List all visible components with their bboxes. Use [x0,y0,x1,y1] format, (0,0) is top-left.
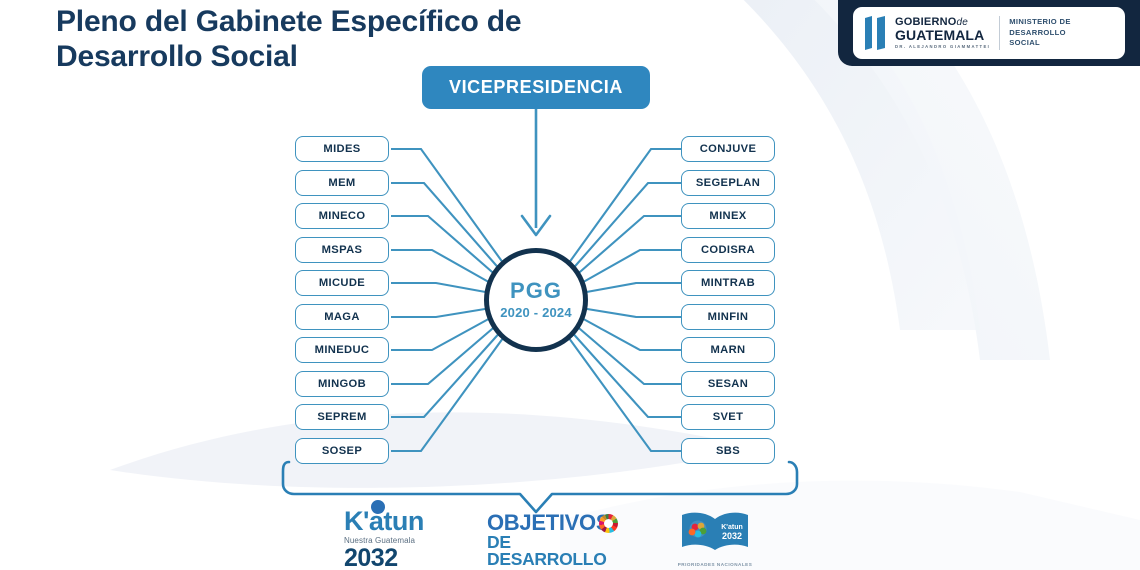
node-left-6[interactable]: MAGA [295,304,389,330]
pgg-period: 2020 - 2024 [500,305,572,320]
svg-text:2032: 2032 [722,531,742,541]
gov-de-text: de [957,17,969,28]
slide-canvas: Pleno del Gabinete Específico de Desarro… [0,0,1140,570]
gov-line-guatemala: GUATEMALA [895,28,990,43]
connector-right-8 [573,323,681,384]
prioridades-caption-line-1: PRIORIDADES NACIONALES [676,562,754,569]
node-left-1[interactable]: MIDES [295,136,389,162]
katun-year: 2032 [344,546,436,570]
node-pgg-center[interactable]: PGG 2020 - 2024 [484,248,588,352]
node-right-3[interactable]: MINEX [681,203,775,229]
connector-left-1 [391,149,506,267]
connector-left-4 [391,250,494,285]
gov-line-president: DR. ALEJANDRO GIAMMATTEI [895,44,990,49]
government-logo: GOBIERNOde GUATEMALA DR. ALEJANDRO GIAMM… [838,0,1140,66]
node-right-7[interactable]: MARN [681,337,775,363]
connector-left-9 [391,329,503,417]
ods-line-1-text: OBJETIVOS [487,510,610,535]
connector-right-3 [573,216,681,278]
connector-left-8 [391,323,499,384]
node-left-9[interactable]: SEPREM [295,404,389,430]
node-right-9[interactable]: SVET [681,404,775,430]
ministry-line-3: SOCIAL [1009,38,1071,49]
ministry-line-1: MINISTERIO DE [1009,17,1071,28]
government-logo-card: GOBIERNOde GUATEMALA DR. ALEJANDRO GIAMM… [853,7,1125,59]
node-left-8[interactable]: MINGOB [295,371,389,397]
bottom-bracket [283,462,797,512]
svg-text:K'atun: K'atun [721,524,743,531]
node-left-5[interactable]: MICUDE [295,270,389,296]
prioridades-caption: PRIORIDADES NACIONALES DE DESARROLLO [676,562,754,570]
connector-left-7 [391,316,494,350]
node-right-1[interactable]: CONJUVE [681,136,775,162]
node-right-4[interactable]: CODISRA [681,237,775,263]
node-left-10[interactable]: SOSEP [295,438,389,464]
node-vicepresidencia[interactable]: VICEPRESIDENCIA [422,66,650,109]
connector-right-4 [578,250,681,285]
node-left-7[interactable]: MINEDUC [295,337,389,363]
node-right-2[interactable]: SEGEPLAN [681,170,775,196]
pgg-acronym: PGG [510,280,562,302]
prioridades-nacionales-logo: K'atun 2032 PRIORIDADES NACIONALES DE DE… [676,509,754,570]
connector-left-2 [391,183,502,272]
connector-left-5 [391,283,491,293]
ministry-line-2: DESARROLLO [1009,28,1071,39]
node-left-3[interactable]: MINECO [295,203,389,229]
sdg-color-wheel-icon [599,514,618,533]
connector-left-10 [391,334,506,451]
page-title-line-1: Pleno del Gabinete Específico de [56,4,656,39]
government-wordmark: GOBIERNOde GUATEMALA DR. ALEJANDRO GIAMM… [895,17,990,49]
ods-line-2: DE DESARROLLO [487,534,617,569]
page-title: Pleno del Gabinete Específico de Desarro… [56,4,656,75]
node-left-4[interactable]: MSPAS [295,237,389,263]
connector-right-1 [566,149,681,267]
ministry-name: MINISTERIO DE DESARROLLO SOCIAL [1009,17,1071,49]
gov-bars-svg [862,16,888,50]
katun-dot-icon [371,500,385,514]
katun-wordmark: K'atun [344,508,436,535]
connector-right-6 [581,308,681,317]
ods-line-1: OBJETIVOS [487,513,617,534]
swoosh-bottom-right [560,481,1140,570]
open-book-icon: K'atun 2032 [676,509,754,555]
katun-logo: K'atun Nuestra Guatemala 2032 [344,508,436,570]
node-right-6[interactable]: MINFIN [681,304,775,330]
arrow-vicepresidencia-to-pgg [522,109,550,235]
gov-gobierno-text: GOBIERNO [895,16,957,28]
gov-logo-divider [999,16,1000,50]
connector-left-6 [391,308,491,317]
node-left-2[interactable]: MEM [295,170,389,196]
connector-left-3 [391,216,499,278]
connector-right-9 [569,329,681,417]
swoosh-bottom-left [110,412,760,488]
node-right-5[interactable]: MINTRAB [681,270,775,296]
connector-right-2 [570,183,681,272]
node-right-8[interactable]: SESAN [681,371,775,397]
node-right-10[interactable]: SBS [681,438,775,464]
connector-right-10 [566,334,681,451]
connector-right-7 [578,316,681,350]
connector-right-5 [581,283,681,293]
ods-logo: OBJETIVOS DE DESARROLLO SOSTENIBLE [487,513,617,570]
guatemala-flag-bars-icon [862,17,888,49]
